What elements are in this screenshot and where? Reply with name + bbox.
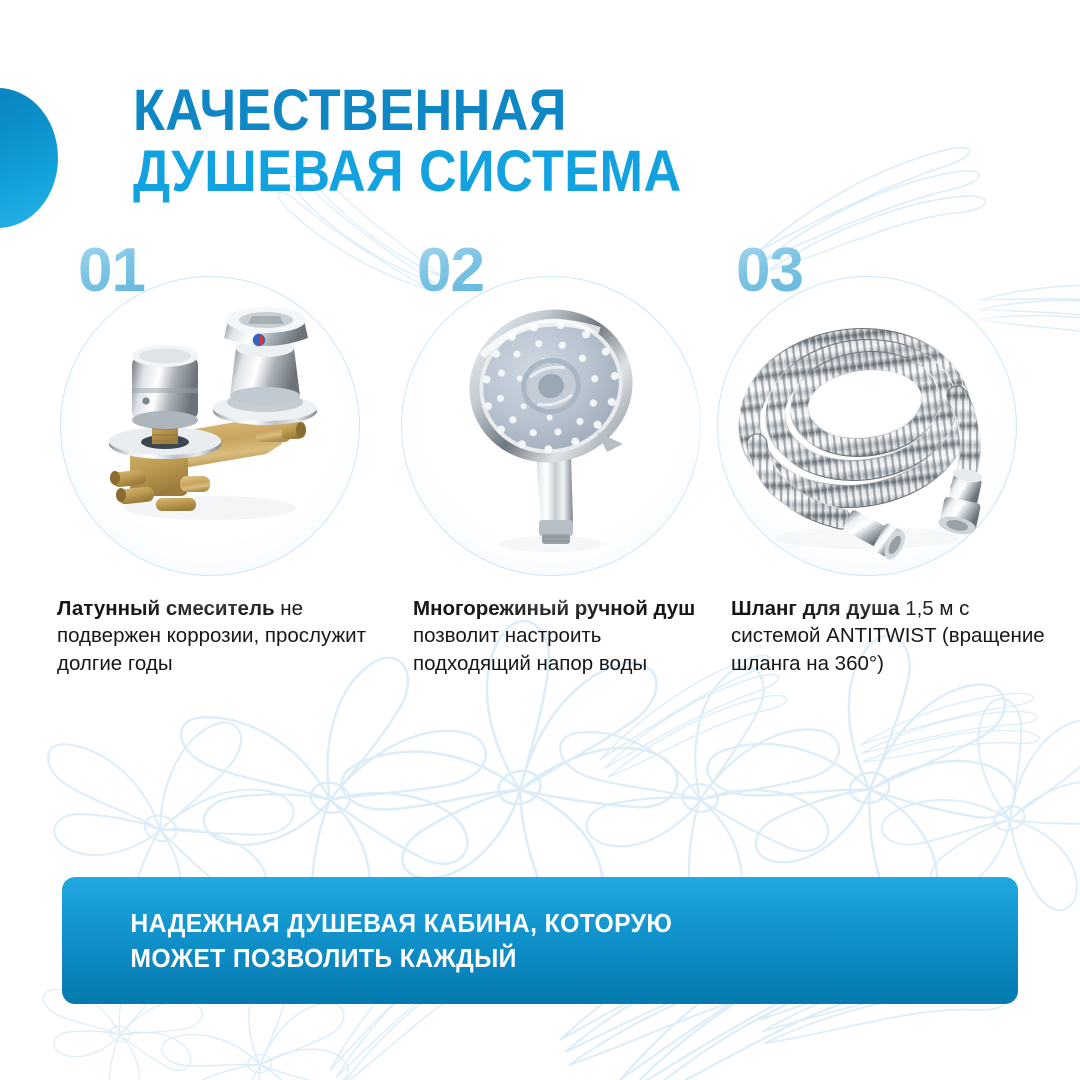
page-title-line1: КАЧЕСТВЕННАЯ <box>133 84 682 137</box>
feature-title-1: Латунный смеситель <box>57 597 275 620</box>
brass-mixer-valve-image <box>60 276 360 576</box>
decorative-blue-circle <box>0 88 58 228</box>
page-title: КАЧЕСТВЕННАЯ ДУШЕВАЯ СИСТЕМА <box>133 84 743 199</box>
feature-caption-3: Шланг для душа 1,5 м с системой ANTITWIS… <box>731 595 1051 677</box>
page-title-line2: ДУШЕВАЯ СИСТЕМА <box>133 145 682 198</box>
feature-caption-2: Многорежиный ручной душ позволит настрои… <box>413 595 705 677</box>
feature-caption-1: Латунный смеситель не подвержен коррозии… <box>57 595 377 677</box>
shower-hose-image <box>717 276 1017 576</box>
feature-body-2: позволит настроить подходящий напор воды <box>413 624 647 674</box>
feature-number-3: 03 <box>736 240 803 302</box>
bottom-banner-text: НАДЕЖНАЯ ДУШЕВАЯ КАБИНА, КОТОРУЮ МОЖЕТ П… <box>62 906 672 975</box>
infographic-page: { "headline": { "line1": "КАЧЕСТВЕННАЯ",… <box>0 0 1080 1080</box>
bottom-banner-line1: НАДЕЖНАЯ ДУШЕВАЯ КАБИНА, КОТОРУЮ <box>130 906 672 941</box>
feature-number-1: 01 <box>78 240 145 302</box>
bottom-banner-line2: МОЖЕТ ПОЗВОЛИТЬ КАЖДЫЙ <box>130 941 672 976</box>
bottom-banner: НАДЕЖНАЯ ДУШЕВАЯ КАБИНА, КОТОРУЮ МОЖЕТ П… <box>62 877 1018 1004</box>
feature-title-2: Многорежиный ручной душ <box>413 597 695 620</box>
feature-number-2: 02 <box>417 240 484 302</box>
handheld-shower-head-image <box>401 276 701 576</box>
feature-title-3: Шланг для душа <box>731 597 899 620</box>
